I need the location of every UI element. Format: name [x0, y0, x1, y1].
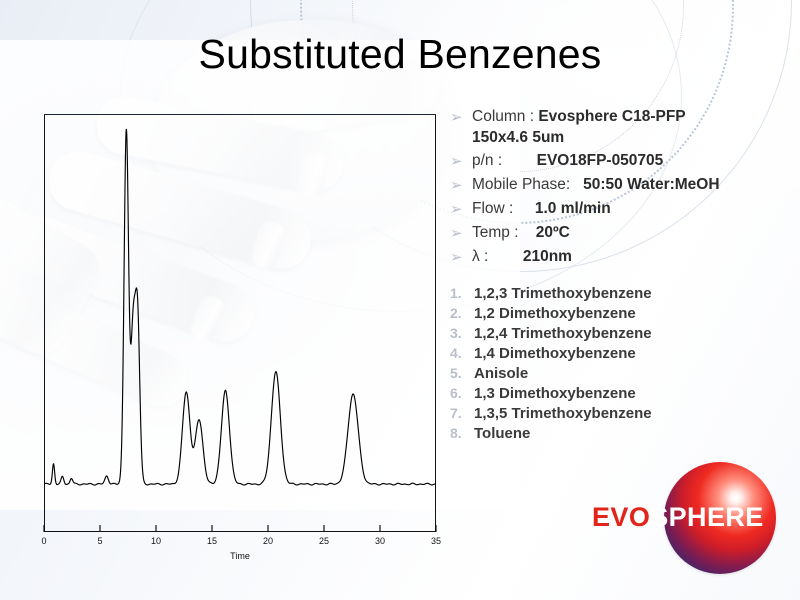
method-row: ➢Mobile Phase: 50:50 Water:MeOH: [450, 176, 790, 195]
list-item: 6.1,3 Dimethoxybenzene: [450, 385, 790, 402]
method-parameters-list: ➢Column : Evosphere C18-PFP150x4.6 5um➢p…: [450, 108, 790, 272]
x-axis-tick-label: 10: [151, 536, 161, 546]
compound-number: 6.: [450, 385, 474, 401]
list-item: 5.Anisole: [450, 365, 790, 382]
method-row-text: λ : 210nm: [472, 248, 572, 266]
list-item: 7.1,3,5 Trimethoxybenzene: [450, 405, 790, 422]
logo-text-evo: EVO: [592, 502, 650, 532]
x-axis-tick-label: 5: [97, 536, 102, 546]
method-row: ➢λ : 210nm: [450, 248, 790, 267]
chromatogram-line: [44, 129, 436, 485]
method-label: Column :: [472, 108, 538, 125]
compound-number: 4.: [450, 345, 474, 361]
compound-name: Anisole: [474, 365, 528, 382]
compound-number: 2.: [450, 305, 474, 321]
page-title: Substituted Benzenes: [0, 34, 800, 75]
logo-wordmark: EVOSPHERE: [592, 504, 792, 531]
method-row-text: Mobile Phase: 50:50 Water:MeOH: [472, 176, 720, 194]
compound-number: 3.: [450, 325, 474, 341]
x-axis-label: Time: [44, 551, 436, 561]
compound-name: 1,3,5 Trimethoxybenzene: [474, 405, 652, 422]
method-value: Evosphere C18-PFP: [538, 108, 685, 125]
method-row-text: Temp : 20ºC: [472, 224, 570, 242]
bullet-arrow-icon: ➢: [450, 176, 472, 195]
list-item: 4.1,4 Dimethoxybenzene: [450, 345, 790, 362]
x-axis-tick-label: 30: [375, 536, 385, 546]
bullet-arrow-icon: ➢: [450, 200, 472, 219]
bullet-arrow-icon: ➢: [450, 224, 472, 243]
method-label: Temp :: [472, 224, 536, 241]
compound-name: 1,2 Dimethoxybenzene: [474, 305, 636, 322]
method-value: 20ºC: [536, 224, 570, 241]
x-axis-tick-label: 35: [431, 536, 441, 546]
method-row-text: Column : Evosphere C18-PFP: [472, 108, 686, 126]
method-row: ➢Flow : 1.0 ml/min: [450, 200, 790, 219]
chromatogram-plot: [44, 114, 436, 532]
method-value: EVO18FP-050705: [537, 152, 664, 169]
compound-name: Toluene: [474, 425, 530, 442]
compound-number: 8.: [450, 425, 474, 441]
list-item: 2.1,2 Dimethoxybenzene: [450, 305, 790, 322]
compound-number: 1.: [450, 285, 474, 301]
compound-number: 7.: [450, 405, 474, 421]
x-axis: 05101520253035: [28, 525, 458, 570]
method-label: p/n :: [472, 152, 537, 169]
bullet-arrow-icon: ➢: [450, 248, 472, 267]
x-axis-tick-label: 20: [263, 536, 273, 546]
method-row-text: Flow : 1.0 ml/min: [472, 200, 611, 218]
x-axis-tick-label: 15: [207, 536, 217, 546]
x-axis-tick-label: 25: [319, 536, 329, 546]
list-item: 8.Toluene: [450, 425, 790, 442]
evosphere-logo: EVOSPHERE: [592, 460, 792, 582]
method-row: ➢Temp : 20ºC: [450, 224, 790, 243]
compound-list: 1.1,2,3 Trimethoxybenzene2.1,2 Dimethoxy…: [450, 285, 790, 445]
method-label: Mobile Phase:: [472, 176, 583, 193]
compound-name: 1,3 Dimethoxybenzene: [474, 385, 636, 402]
method-label: Flow :: [472, 200, 535, 217]
compound-number: 5.: [450, 365, 474, 381]
method-value: 210nm: [523, 248, 572, 265]
method-value: 50:50 Water:MeOH: [583, 176, 719, 193]
compound-name: 1,2,4 Trimethoxybenzene: [474, 325, 652, 342]
chromatogram-trace: [44, 114, 436, 532]
method-row-text: p/n : EVO18FP-050705: [472, 152, 663, 170]
list-item: 3.1,2,4 Trimethoxybenzene: [450, 325, 790, 342]
method-value-continuation: 150x4.6 5um: [472, 129, 790, 147]
method-label: λ :: [472, 248, 523, 265]
method-value: 1.0 ml/min: [535, 200, 611, 217]
compound-name: 1,2,3 Trimethoxybenzene: [474, 285, 652, 302]
compound-name: 1,4 Dimethoxybenzene: [474, 345, 636, 362]
list-item: 1.1,2,3 Trimethoxybenzene: [450, 285, 790, 302]
x-axis-tick-label: 0: [41, 536, 46, 546]
bullet-arrow-icon: ➢: [450, 152, 472, 171]
logo-text-sphere: SPHERE: [650, 502, 763, 532]
method-row: ➢p/n : EVO18FP-050705: [450, 152, 790, 171]
bullet-arrow-icon: ➢: [450, 108, 472, 127]
method-row: ➢Column : Evosphere C18-PFP: [450, 108, 790, 127]
